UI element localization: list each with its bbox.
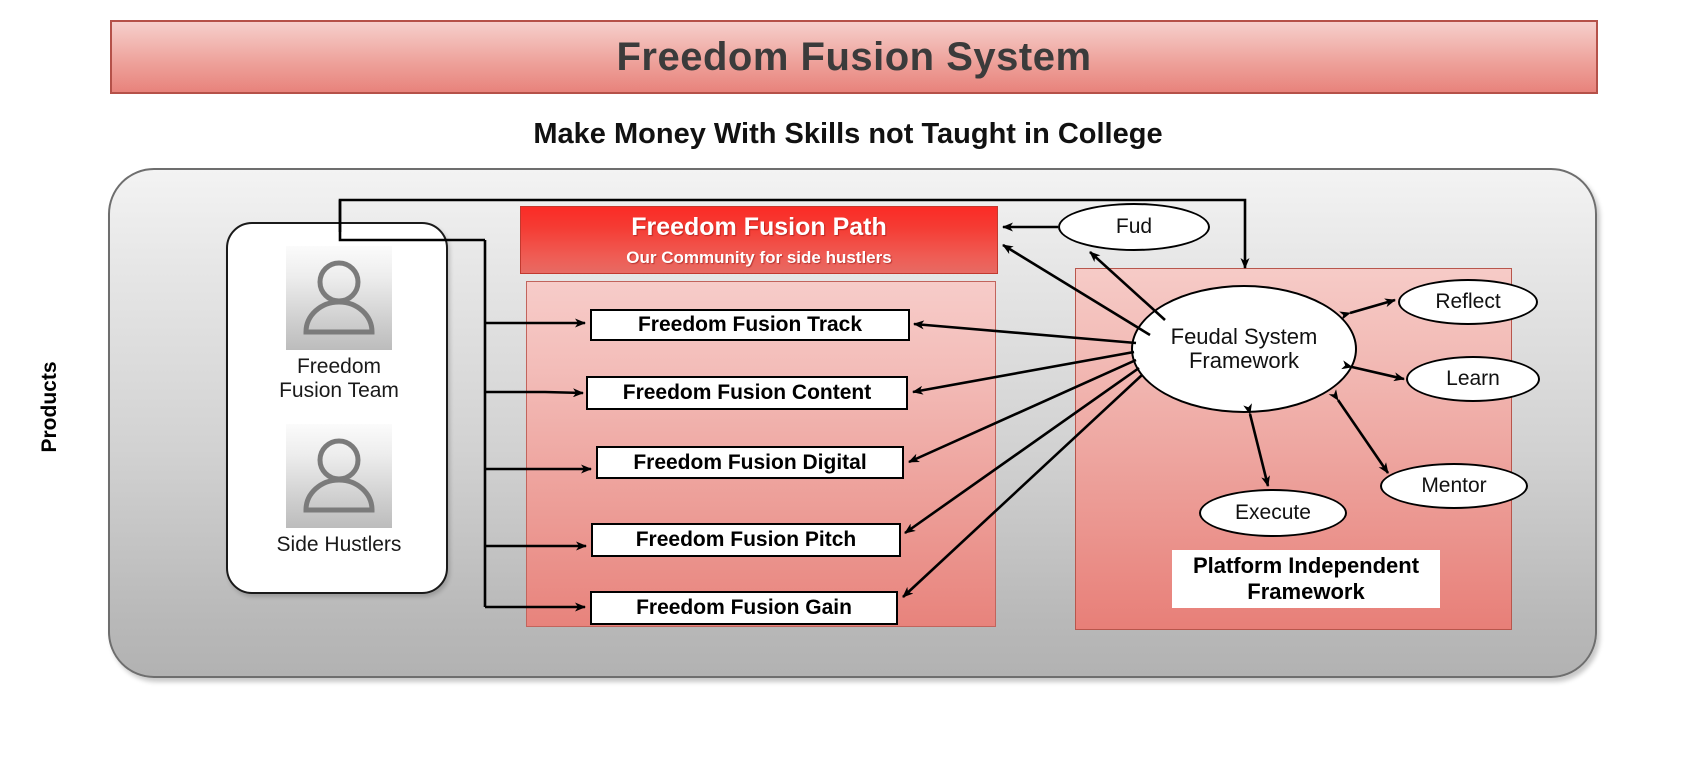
title-bar: Freedom Fusion System <box>110 20 1598 94</box>
product-box-track[interactable]: Freedom Fusion Track <box>590 309 910 341</box>
ellipse-learn[interactable]: Learn <box>1406 356 1540 402</box>
ellipse-feudal-system-framework[interactable]: Feudal System Framework <box>1131 285 1357 413</box>
product-box-pitch[interactable]: Freedom Fusion Pitch <box>591 523 901 557</box>
freedom-fusion-path-header: Freedom Fusion Path Our Community for si… <box>520 206 998 274</box>
ellipse-fud[interactable]: Fud <box>1058 203 1210 251</box>
persons-card: Freedom Fusion Team Side Hustlers <box>226 222 448 594</box>
person-icon <box>286 246 392 350</box>
ellipse-reflect[interactable]: Reflect <box>1398 279 1538 325</box>
platform-independent-framework-caption: Platform Independent Framework <box>1172 550 1440 608</box>
path-tagline: Our Community for side hustlers <box>626 248 891 268</box>
page-subtitle: Make Money With Skills not Taught in Col… <box>0 118 1696 151</box>
path-title: Freedom Fusion Path <box>631 213 887 242</box>
person-label: Freedom Fusion Team <box>228 355 450 402</box>
diagram-canvas: Freedom Fusion System Make Money With Sk… <box>0 0 1696 758</box>
ellipse-mentor[interactable]: Mentor <box>1380 463 1528 509</box>
products-axis-label: Products <box>38 347 62 467</box>
person-side-hustlers[interactable]: Side Hustlers <box>228 424 450 557</box>
product-box-gain[interactable]: Freedom Fusion Gain <box>590 591 898 625</box>
page-title: Freedom Fusion System <box>616 35 1091 80</box>
ellipse-execute[interactable]: Execute <box>1199 489 1347 537</box>
person-freedom-fusion-team[interactable]: Freedom Fusion Team <box>228 246 450 402</box>
person-icon <box>286 424 392 528</box>
person-label: Side Hustlers <box>228 533 450 557</box>
product-box-digital[interactable]: Freedom Fusion Digital <box>596 446 904 479</box>
product-box-content[interactable]: Freedom Fusion Content <box>586 376 908 410</box>
